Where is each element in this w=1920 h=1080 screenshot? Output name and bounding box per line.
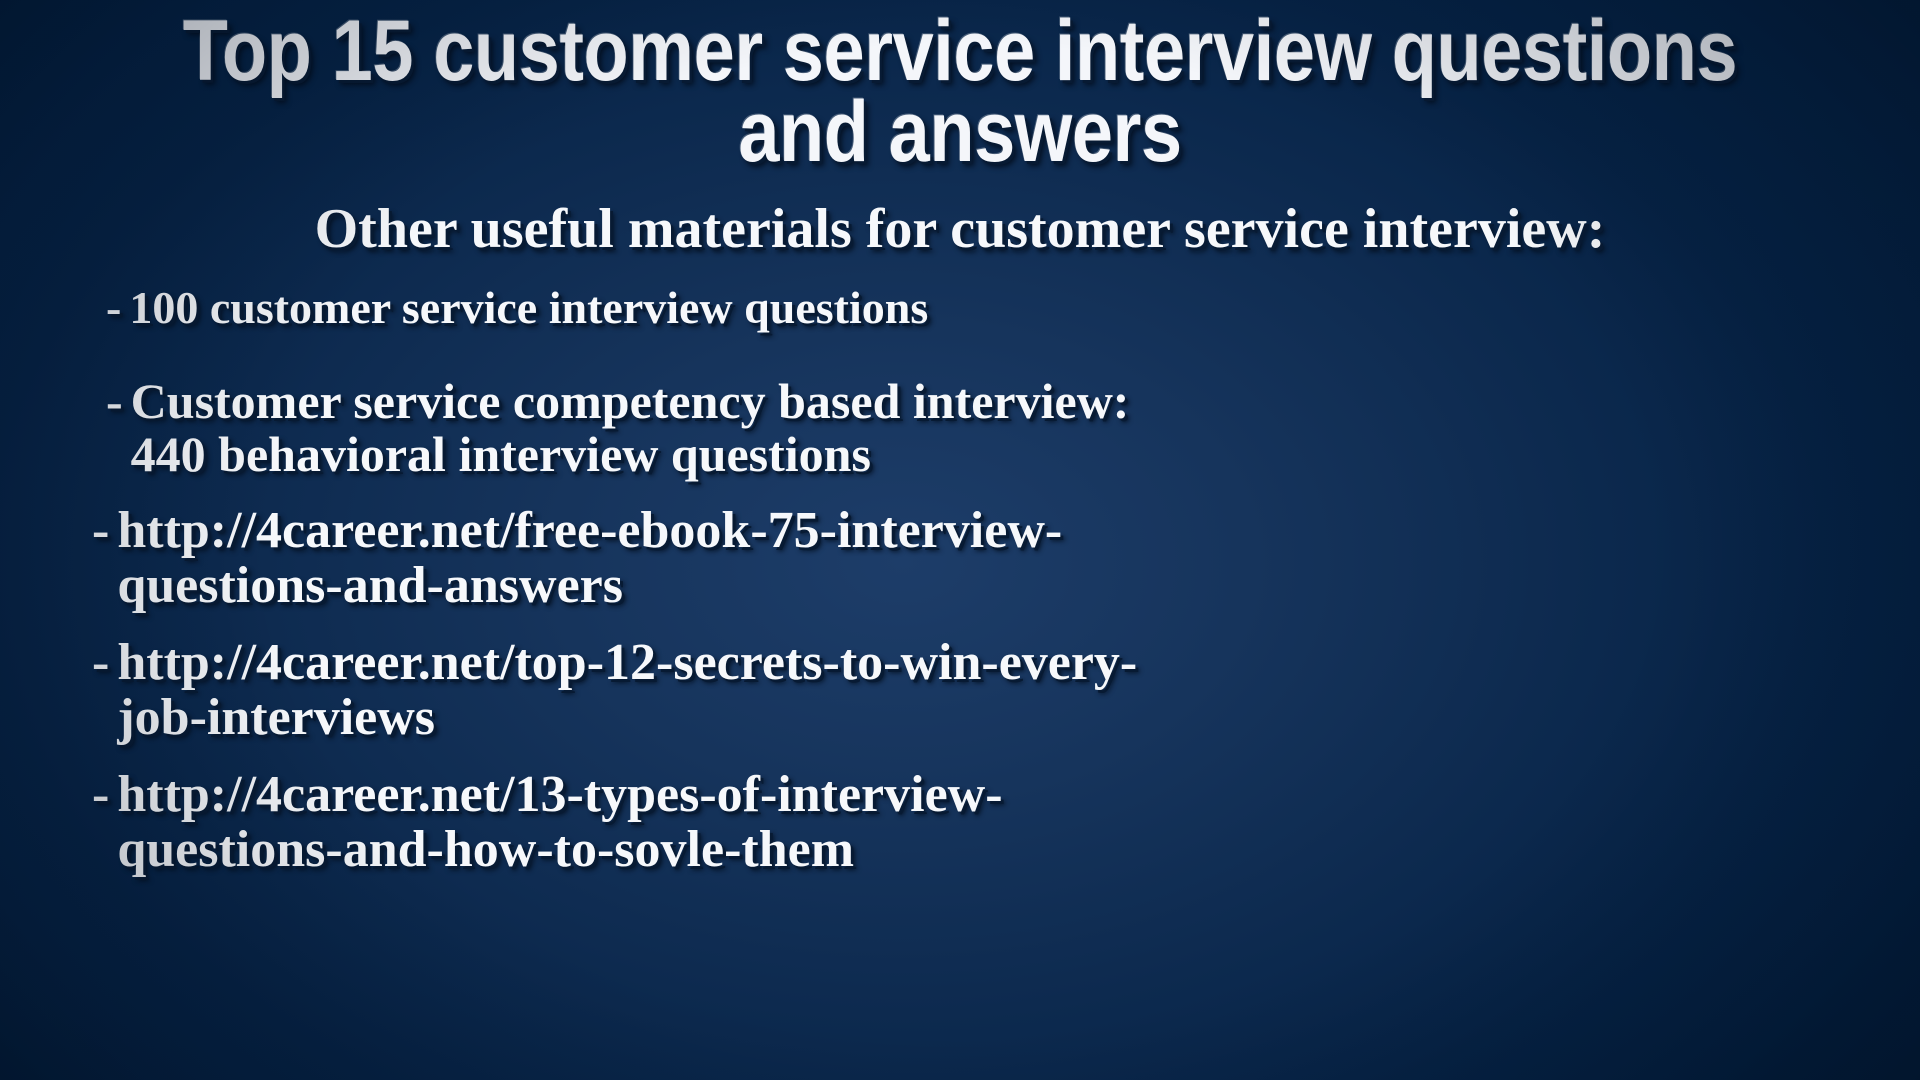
list-item-line-1: http://4career.net/free-ebook-75-intervi…	[117, 502, 1062, 559]
bullet-dash-icon: -	[106, 375, 131, 428]
list-item: - http://4career.net/free-ebook-75-inter…	[92, 503, 1860, 613]
list-item-text: http://4career.net/top-12-secrets-to-win…	[117, 635, 1860, 745]
list-item-line-1: 100 customer service interview questions	[129, 282, 928, 333]
bullet-dash-icon: -	[106, 284, 129, 333]
title-line-1: Top 15 customer service interview questi…	[169, 12, 1751, 91]
list-item-line-1: Customer service competency based interv…	[131, 373, 1130, 429]
list-item-text: http://4career.net/free-ebook-75-intervi…	[117, 503, 1860, 613]
slide-subtitle: Other useful materials for customer serv…	[0, 200, 1920, 259]
bullet-dash-icon: -	[92, 767, 117, 822]
title-line-2: and answers	[169, 93, 1751, 172]
list-item: - http://4career.net/top-12-secrets-to-w…	[92, 635, 1860, 745]
presentation-slide: Top 15 customer service interview questi…	[0, 0, 1920, 1080]
list-item: - 100 customer service interview questio…	[106, 284, 1860, 333]
bullet-dash-icon: -	[92, 635, 117, 690]
bullet-dash-icon: -	[92, 503, 117, 558]
list-item-text: http://4career.net/13-types-of-interview…	[117, 767, 1860, 877]
list-item-text: 100 customer service interview questions	[129, 284, 1860, 333]
list-item: - Customer service competency based inte…	[106, 375, 1860, 481]
list-item-line-2: questions-and-answers	[117, 558, 1860, 613]
slide-title: Top 15 customer service interview questi…	[0, 12, 1920, 172]
list-item-text: Customer service competency based interv…	[131, 375, 1860, 481]
list-item-line-2: 440 behavioral interview questions	[131, 428, 1860, 481]
list-item-line-1: http://4career.net/13-types-of-interview…	[117, 766, 1002, 823]
list-item: - http://4career.net/13-types-of-intervi…	[92, 767, 1860, 877]
list-item-line-1: http://4career.net/top-12-secrets-to-win…	[117, 634, 1137, 691]
list-item-line-2: questions-and-how-to-sovle-them	[117, 822, 1860, 877]
resources-list: - 100 customer service interview questio…	[88, 284, 1860, 877]
list-item-line-2: job-interviews	[117, 690, 1860, 745]
